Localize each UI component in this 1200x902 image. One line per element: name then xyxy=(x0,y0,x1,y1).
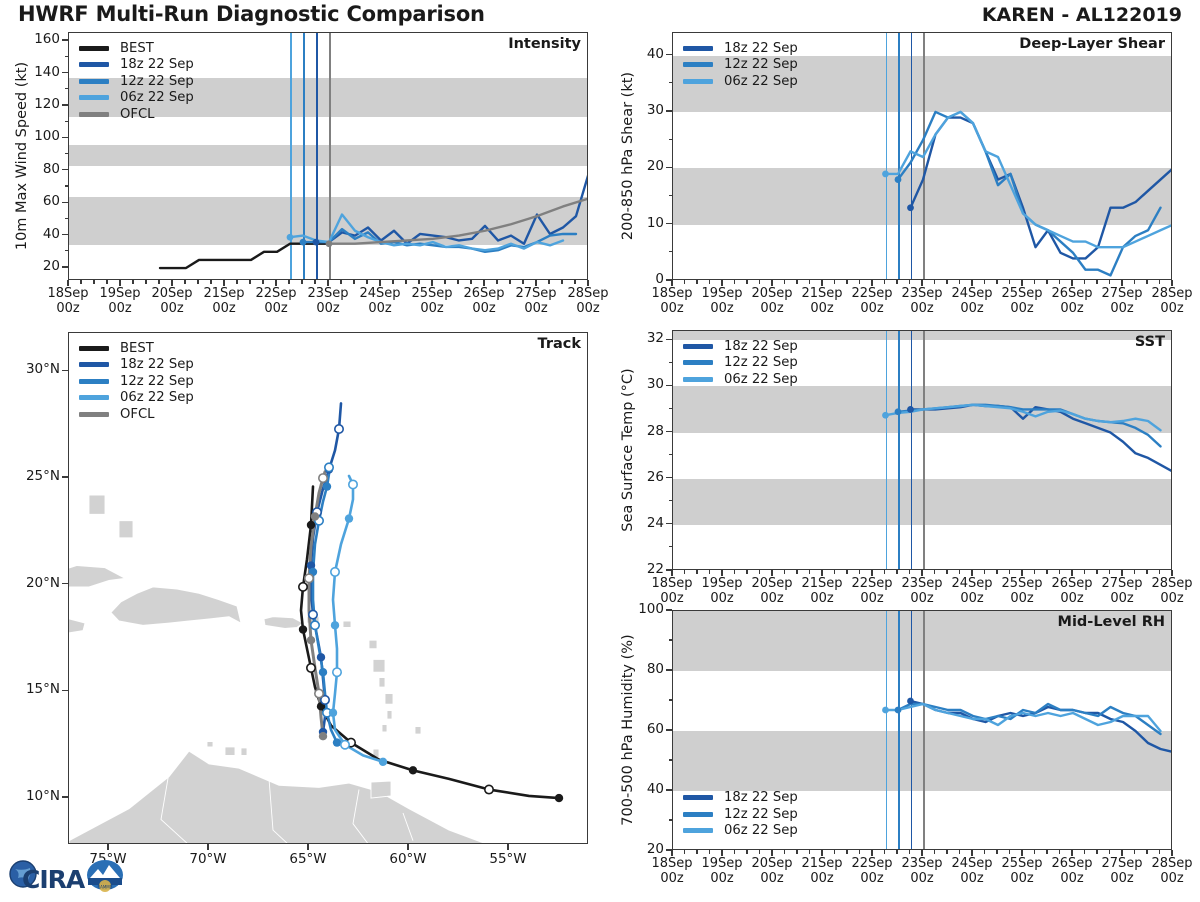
legend-item: BEST xyxy=(79,40,194,57)
lat-tick-label: 15°N xyxy=(6,681,60,697)
x-tick-day: 19Sep xyxy=(99,286,140,301)
x-tick-label: 28Sep00z xyxy=(556,287,620,316)
y-axis-label: 200-850 hPa Shear (kt) xyxy=(620,72,636,240)
x-minor-tickmark xyxy=(1059,850,1060,854)
legend-color-swatch xyxy=(79,412,109,417)
y-minor-tickmark xyxy=(669,759,673,760)
x-tick-hour: 00z xyxy=(1060,871,1083,886)
legend-item: 18z 22 Sep xyxy=(683,790,798,807)
x-minor-tickmark xyxy=(746,850,747,854)
cira-logo: CIRA RAMMB xyxy=(6,848,124,898)
x-minor-tickmark xyxy=(846,570,847,574)
x-minor-tickmark xyxy=(522,280,523,284)
sst-plot-area: 18z 22 Sep12z 22 Sep06z 22 Sep xyxy=(672,330,1172,570)
x-minor-tickmark xyxy=(709,850,710,854)
x-minor-tickmark xyxy=(796,280,797,284)
x-minor-tickmark xyxy=(684,570,685,574)
x-tick-hour: 00z xyxy=(1010,871,1033,886)
x-tick-hour: 00z xyxy=(860,301,883,316)
x-tick-day: 18Sep xyxy=(651,576,692,591)
x-minor-tickmark xyxy=(834,850,835,854)
y-tickmark xyxy=(666,223,672,224)
sst-panel-title: SST xyxy=(1135,334,1165,350)
x-minor-tickmark xyxy=(934,280,935,284)
legend-item-label: 18z 22 Sep xyxy=(724,339,798,354)
legend-item-label: 06z 22 Sep xyxy=(724,823,798,838)
y-tickmark xyxy=(62,137,68,138)
y-tickmark xyxy=(62,234,68,235)
legend-item: 18z 22 Sep xyxy=(79,57,194,74)
y-minor-tickmark xyxy=(65,218,69,219)
y-minor-tickmark xyxy=(65,250,69,251)
x-tick-hour: 00z xyxy=(810,871,833,886)
y-tick-label: 100 xyxy=(614,601,664,617)
rh-panel-title: Mid-Level RH xyxy=(1058,614,1165,630)
x-tick-hour: 00z xyxy=(368,301,391,316)
x-minor-tickmark xyxy=(734,570,735,574)
y-tickmark xyxy=(666,339,672,340)
y-tickmark xyxy=(666,54,672,55)
legend-item-label: 06z 22 Sep xyxy=(120,390,194,405)
y-tickmark xyxy=(666,167,672,168)
x-minor-tickmark xyxy=(80,280,81,284)
x-tick-day: 22Sep xyxy=(255,286,296,301)
lon-tick-label: 70°W xyxy=(174,852,242,867)
x-minor-tickmark xyxy=(934,570,935,574)
x-minor-tickmark xyxy=(1096,280,1097,284)
x-minor-tickmark xyxy=(846,850,847,854)
y-tick-label: 20 xyxy=(614,841,664,857)
x-minor-tickmark xyxy=(145,280,146,284)
x-minor-tickmark xyxy=(1109,570,1110,574)
lat-tickmark xyxy=(62,690,68,691)
y-minor-tickmark xyxy=(669,362,673,363)
x-minor-tickmark xyxy=(859,850,860,854)
x-tick-hour: 00z xyxy=(56,301,79,316)
legend-item-label: 18z 22 Sep xyxy=(724,790,798,805)
x-tick-label: 28Sep00z xyxy=(1140,857,1200,886)
x-minor-tickmark xyxy=(896,850,897,854)
x-tick-day: 21Sep xyxy=(801,286,842,301)
legend-item: 06z 22 Sep xyxy=(79,90,194,107)
legend-item-label: 12z 22 Sep xyxy=(120,374,194,389)
x-minor-tickmark xyxy=(574,280,575,284)
x-tick-day: 27Sep xyxy=(1101,576,1142,591)
x-tick-day: 21Sep xyxy=(801,856,842,871)
legend-color-swatch xyxy=(79,362,109,367)
svg-text:RAMMB: RAMMB xyxy=(98,885,113,890)
x-tick-day: 25Sep xyxy=(1001,286,1042,301)
x-tick-hour: 00z xyxy=(1010,301,1033,316)
x-tick-hour: 00z xyxy=(1160,591,1183,606)
x-tick-day: 28Sep xyxy=(1151,856,1192,871)
x-tick-hour: 00z xyxy=(860,871,883,886)
x-minor-tickmark xyxy=(896,570,897,574)
x-tick-hour: 00z xyxy=(1160,301,1183,316)
y-axis-label: Sea Surface Temp (°C) xyxy=(620,368,636,531)
x-minor-tickmark xyxy=(909,280,910,284)
panel-shear: 18z 22 Sep12z 22 Sep06z 22 Sep Deep-Laye… xyxy=(672,32,1172,280)
x-minor-tickmark xyxy=(809,850,810,854)
legend-color-swatch xyxy=(79,95,109,100)
x-minor-tickmark xyxy=(353,280,354,284)
x-minor-tickmark xyxy=(959,280,960,284)
x-minor-tickmark xyxy=(809,280,810,284)
x-tick-hour: 00z xyxy=(660,871,683,886)
legend-color-swatch xyxy=(683,812,713,817)
x-minor-tickmark xyxy=(984,850,985,854)
x-tick-hour: 00z xyxy=(910,301,933,316)
x-tick-label: 28Sep00z xyxy=(1140,577,1200,606)
rh-plot-area: 18z 22 Sep12z 22 Sep06z 22 Sep xyxy=(672,610,1172,850)
x-tick-day: 27Sep xyxy=(1101,856,1142,871)
panel-intensity: BEST18z 22 Sep12z 22 Sep06z 22 SepOFCL I… xyxy=(68,32,588,280)
x-tick-day: 19Sep xyxy=(701,286,742,301)
y-tickmark xyxy=(62,104,68,105)
lat-tick-label: 20°N xyxy=(6,575,60,591)
x-minor-tickmark xyxy=(1159,570,1160,574)
x-tick-day: 24Sep xyxy=(951,286,992,301)
x-minor-tickmark xyxy=(959,570,960,574)
x-minor-tickmark xyxy=(1084,850,1085,854)
legend-item: 18z 22 Sep xyxy=(683,338,798,355)
y-minor-tickmark xyxy=(669,639,673,640)
legend-item-label: OFCL xyxy=(120,107,155,122)
x-tick-hour: 00z xyxy=(1060,591,1083,606)
svg-text:CIRA: CIRA xyxy=(22,865,86,894)
x-minor-tickmark xyxy=(996,850,997,854)
x-minor-tickmark xyxy=(809,570,810,574)
y-minor-tickmark xyxy=(65,185,69,186)
y-tickmark xyxy=(62,202,68,203)
x-tick-hour: 00z xyxy=(108,301,131,316)
legend-color-swatch xyxy=(683,46,713,51)
x-tick-hour: 00z xyxy=(710,301,733,316)
x-tick-hour: 00z xyxy=(860,591,883,606)
x-minor-tickmark xyxy=(1096,570,1097,574)
legend-rh: 18z 22 Sep12z 22 Sep06z 22 Sep xyxy=(683,790,798,840)
x-minor-tickmark xyxy=(796,850,797,854)
x-tick-day: 23Sep xyxy=(901,286,942,301)
y-tickmark xyxy=(666,729,672,730)
x-minor-tickmark xyxy=(366,280,367,284)
y-minor-tickmark xyxy=(669,819,673,820)
x-minor-tickmark xyxy=(996,280,997,284)
y-minor-tickmark xyxy=(669,195,673,196)
lon-tick-label: 65°W xyxy=(274,852,342,867)
x-minor-tickmark xyxy=(784,850,785,854)
x-tick-hour: 00z xyxy=(910,871,933,886)
y-minor-tickmark xyxy=(669,500,673,501)
x-minor-tickmark xyxy=(896,280,897,284)
x-minor-tickmark xyxy=(470,280,471,284)
x-minor-tickmark xyxy=(946,280,947,284)
legend-item: BEST xyxy=(79,340,194,357)
x-tick-day: 19Sep xyxy=(701,856,742,871)
legend-item-label: 12z 22 Sep xyxy=(724,355,798,370)
x-minor-tickmark xyxy=(301,280,302,284)
legend-item: 12z 22 Sep xyxy=(683,806,798,823)
x-minor-tickmark xyxy=(909,850,910,854)
panel-rh: 18z 22 Sep12z 22 Sep06z 22 Sep Mid-Level… xyxy=(672,610,1172,850)
legend-item-label: 12z 22 Sep xyxy=(120,74,194,89)
x-minor-tickmark xyxy=(1059,280,1060,284)
legend-item: 18z 22 Sep xyxy=(683,40,798,57)
x-minor-tickmark xyxy=(909,570,910,574)
y-tick-label: 160 xyxy=(10,31,60,47)
x-tick-day: 22Sep xyxy=(851,286,892,301)
intensity-panel-title: Intensity xyxy=(508,36,581,52)
x-minor-tickmark xyxy=(561,280,562,284)
legend-item-label: 06z 22 Sep xyxy=(724,74,798,89)
x-minor-tickmark xyxy=(93,280,94,284)
x-tick-hour: 00z xyxy=(910,591,933,606)
x-minor-tickmark xyxy=(859,570,860,574)
lon-tickmark xyxy=(507,844,508,850)
x-minor-tickmark xyxy=(314,280,315,284)
legend-item: 06z 22 Sep xyxy=(683,73,798,90)
track-plot-area: BEST18z 22 Sep12z 22 Sep06z 22 SepOFCL xyxy=(68,332,588,844)
x-minor-tickmark xyxy=(1046,850,1047,854)
legend-color-swatch xyxy=(79,112,109,117)
y-tick-label: 20 xyxy=(10,258,60,274)
x-tick-hour: 00z xyxy=(212,301,235,316)
legend-color-swatch xyxy=(79,379,109,384)
y-tickmark xyxy=(62,39,68,40)
lon-tickmark xyxy=(407,844,408,850)
x-minor-tickmark xyxy=(158,280,159,284)
legend-color-swatch xyxy=(683,828,713,833)
x-tick-day: 20Sep xyxy=(751,856,792,871)
x-tick-hour: 00z xyxy=(1110,871,1133,886)
panel-track: BEST18z 22 Sep12z 22 Sep06z 22 SepOFCL T… xyxy=(68,332,588,844)
x-minor-tickmark xyxy=(418,280,419,284)
x-minor-tickmark xyxy=(1009,280,1010,284)
legend-color-swatch xyxy=(79,46,109,51)
x-minor-tickmark xyxy=(696,850,697,854)
y-tickmark xyxy=(666,609,672,610)
x-minor-tickmark xyxy=(1034,570,1035,574)
x-minor-tickmark xyxy=(249,280,250,284)
y-tickmark xyxy=(666,431,672,432)
lat-tick-label: 30°N xyxy=(6,361,60,377)
x-minor-tickmark xyxy=(1034,850,1035,854)
x-minor-tickmark xyxy=(709,570,710,574)
legend-color-swatch xyxy=(683,377,713,382)
x-tick-day: 28Sep xyxy=(567,286,608,301)
track-panel-title: Track xyxy=(538,336,581,352)
legend-item-label: 18z 22 Sep xyxy=(120,357,194,372)
x-minor-tickmark xyxy=(1159,850,1160,854)
x-minor-tickmark xyxy=(884,570,885,574)
x-tick-hour: 00z xyxy=(576,301,599,316)
y-minor-tickmark xyxy=(669,82,673,83)
y-tickmark xyxy=(666,669,672,670)
legend-item-label: 06z 22 Sep xyxy=(724,372,798,387)
x-tick-day: 27Sep xyxy=(515,286,556,301)
x-minor-tickmark xyxy=(946,850,947,854)
shear-panel-title: Deep-Layer Shear xyxy=(1019,36,1165,52)
x-tick-day: 18Sep xyxy=(651,286,692,301)
x-tick-day: 24Sep xyxy=(359,286,400,301)
y-minor-tickmark xyxy=(669,454,673,455)
x-minor-tickmark xyxy=(784,570,785,574)
legend-item: 12z 22 Sep xyxy=(79,73,194,90)
legend-item: OFCL xyxy=(79,106,194,123)
x-tick-day: 21Sep xyxy=(203,286,244,301)
x-tick-hour: 00z xyxy=(760,591,783,606)
x-minor-tickmark xyxy=(696,280,697,284)
lat-tickmark xyxy=(62,370,68,371)
legend-item-label: 18z 22 Sep xyxy=(724,41,798,56)
x-minor-tickmark xyxy=(1084,570,1085,574)
x-tick-hour: 00z xyxy=(472,301,495,316)
y-minor-tickmark xyxy=(65,153,69,154)
x-tick-hour: 00z xyxy=(1160,871,1183,886)
x-minor-tickmark xyxy=(984,280,985,284)
lat-tickmark xyxy=(62,476,68,477)
x-minor-tickmark xyxy=(996,570,997,574)
lat-tickmark xyxy=(62,583,68,584)
x-minor-tickmark xyxy=(784,280,785,284)
x-minor-tickmark xyxy=(1134,570,1135,574)
lat-tickmark xyxy=(62,796,68,797)
y-minor-tickmark xyxy=(669,408,673,409)
legend-color-swatch xyxy=(683,360,713,365)
x-minor-tickmark xyxy=(1159,280,1160,284)
x-minor-tickmark xyxy=(884,280,885,284)
y-tickmark xyxy=(666,523,672,524)
legend-color-swatch xyxy=(79,346,109,351)
y-minor-tickmark xyxy=(65,56,69,57)
legend-item: 06z 22 Sep xyxy=(79,390,194,407)
legend-color-swatch xyxy=(79,395,109,400)
x-minor-tickmark xyxy=(509,280,510,284)
x-tick-hour: 00z xyxy=(760,871,783,886)
legend-track: BEST18z 22 Sep12z 22 Sep06z 22 SepOFCL xyxy=(79,340,194,423)
y-minor-tickmark xyxy=(669,251,673,252)
page-title: HWRF Multi-Run Diagnostic Comparison xyxy=(18,2,485,26)
x-tick-day: 24Sep xyxy=(951,576,992,591)
x-tick-hour: 00z xyxy=(1110,591,1133,606)
x-tick-day: 18Sep xyxy=(651,856,692,871)
x-tick-hour: 00z xyxy=(160,301,183,316)
x-tick-label: 28Sep00z xyxy=(1140,287,1200,316)
x-tick-day: 26Sep xyxy=(463,286,504,301)
x-tick-hour: 00z xyxy=(810,591,833,606)
x-minor-tickmark xyxy=(210,280,211,284)
x-minor-tickmark xyxy=(340,280,341,284)
x-minor-tickmark xyxy=(734,280,735,284)
legend-item: 12z 22 Sep xyxy=(683,57,798,74)
lon-tick-label: 55°W xyxy=(474,852,542,867)
x-minor-tickmark xyxy=(1134,850,1135,854)
lat-tick-label: 25°N xyxy=(6,468,60,484)
y-minor-tickmark xyxy=(65,121,69,122)
x-minor-tickmark xyxy=(184,280,185,284)
y-minor-tickmark xyxy=(669,546,673,547)
y-tickmark xyxy=(666,385,672,386)
legend-item-label: 12z 22 Sep xyxy=(724,57,798,72)
legend-item-label: BEST xyxy=(120,41,154,56)
x-minor-tickmark xyxy=(1146,280,1147,284)
x-minor-tickmark xyxy=(132,280,133,284)
x-tick-day: 25Sep xyxy=(1001,856,1042,871)
y-tickmark xyxy=(666,110,672,111)
x-minor-tickmark xyxy=(734,850,735,854)
x-tick-day: 23Sep xyxy=(901,856,942,871)
x-minor-tickmark xyxy=(548,280,549,284)
x-minor-tickmark xyxy=(1084,280,1085,284)
x-minor-tickmark xyxy=(759,850,760,854)
x-tick-hour: 00z xyxy=(960,301,983,316)
x-minor-tickmark xyxy=(946,570,947,574)
y-tick-label: 22 xyxy=(614,561,664,577)
x-tick-day: 18Sep xyxy=(47,286,88,301)
y-tickmark xyxy=(62,169,68,170)
intensity-plot-area: BEST18z 22 Sep12z 22 Sep06z 22 SepOFCL xyxy=(68,32,588,280)
x-minor-tickmark xyxy=(846,280,847,284)
legend-color-swatch xyxy=(683,62,713,67)
y-tickmark xyxy=(666,477,672,478)
legend-item-label: OFCL xyxy=(120,407,155,422)
y-tick-label: 32 xyxy=(614,330,664,346)
legend-intensity: BEST18z 22 Sep12z 22 Sep06z 22 SepOFCL xyxy=(79,40,194,123)
x-minor-tickmark xyxy=(496,280,497,284)
x-minor-tickmark xyxy=(392,280,393,284)
y-tickmark xyxy=(62,72,68,73)
x-tick-hour: 00z xyxy=(760,301,783,316)
y-minor-tickmark xyxy=(669,699,673,700)
x-minor-tickmark xyxy=(1059,570,1060,574)
x-minor-tickmark xyxy=(684,280,685,284)
x-minor-tickmark xyxy=(106,280,107,284)
x-tick-day: 20Sep xyxy=(151,286,192,301)
legend-item-label: 06z 22 Sep xyxy=(120,90,194,105)
x-tick-day: 21Sep xyxy=(801,576,842,591)
x-minor-tickmark xyxy=(746,570,747,574)
x-minor-tickmark xyxy=(759,570,760,574)
x-minor-tickmark xyxy=(1096,850,1097,854)
legend-color-swatch xyxy=(79,62,109,67)
x-minor-tickmark xyxy=(746,280,747,284)
x-minor-tickmark xyxy=(884,850,885,854)
x-tick-hour: 00z xyxy=(660,301,683,316)
y-minor-tickmark xyxy=(65,88,69,89)
x-tick-day: 25Sep xyxy=(1001,576,1042,591)
diagnostic-dashboard: HWRF Multi-Run Diagnostic Comparison KAR… xyxy=(0,0,1200,900)
x-tick-day: 27Sep xyxy=(1101,286,1142,301)
x-minor-tickmark xyxy=(1034,280,1035,284)
x-minor-tickmark xyxy=(236,280,237,284)
y-tickmark xyxy=(666,789,672,790)
legend-color-swatch xyxy=(79,79,109,84)
x-tick-hour: 00z xyxy=(810,301,833,316)
y-axis-label: 10m Max Wind Speed (kt) xyxy=(14,62,30,250)
x-tick-day: 20Sep xyxy=(751,286,792,301)
x-minor-tickmark xyxy=(859,280,860,284)
x-minor-tickmark xyxy=(262,280,263,284)
x-tick-day: 23Sep xyxy=(307,286,348,301)
x-tick-day: 25Sep xyxy=(411,286,452,301)
lon-tickmark xyxy=(207,844,208,850)
x-tick-day: 28Sep xyxy=(1151,286,1192,301)
x-minor-tickmark xyxy=(959,850,960,854)
legend-item: 06z 22 Sep xyxy=(683,371,798,388)
shear-plot-area: 18z 22 Sep12z 22 Sep06z 22 Sep xyxy=(672,32,1172,280)
legend-sst: 18z 22 Sep12z 22 Sep06z 22 Sep xyxy=(683,338,798,388)
x-tick-day: 26Sep xyxy=(1051,576,1092,591)
